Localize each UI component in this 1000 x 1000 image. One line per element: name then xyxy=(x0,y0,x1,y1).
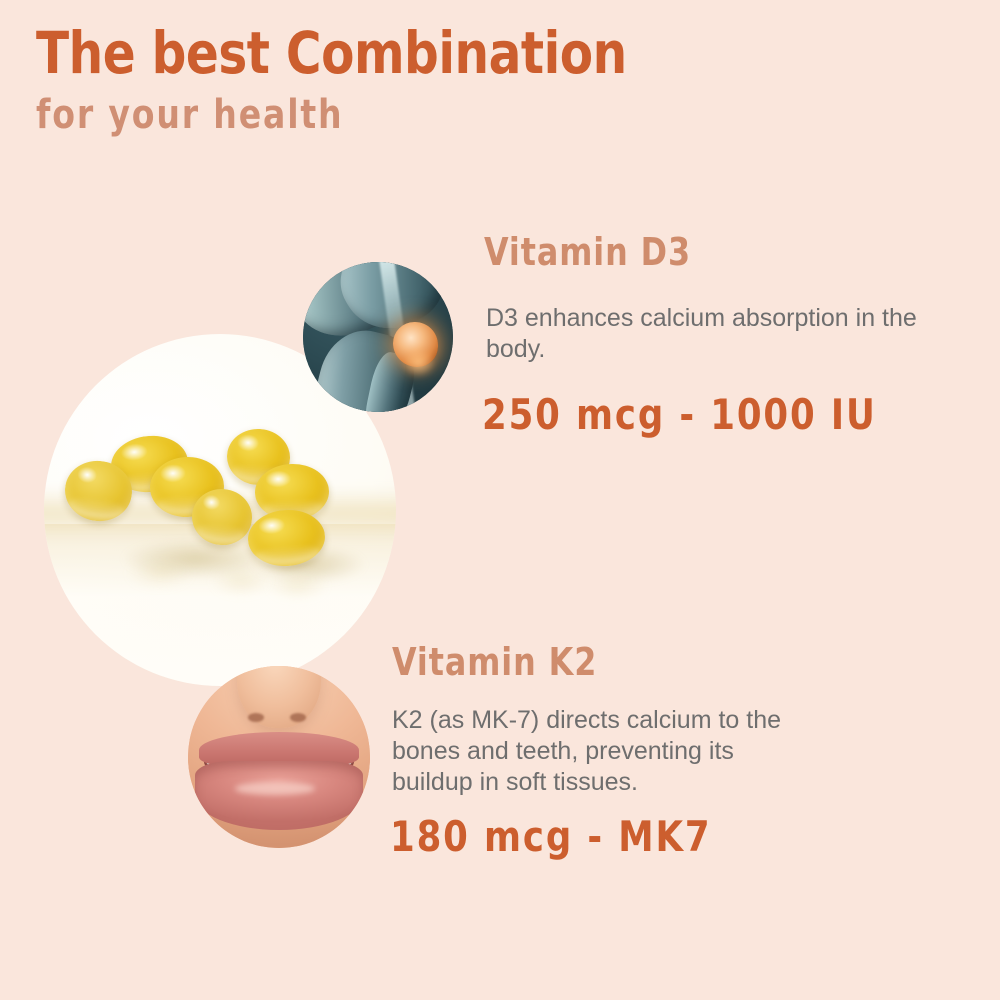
page-title: The best Combination xyxy=(36,22,627,84)
infographic-canvas: The best Combination for your health xyxy=(0,0,1000,1000)
lower-lip xyxy=(195,761,362,830)
vitamin-d3-title: Vitamin D3 xyxy=(484,230,691,274)
vitamin-d3-description: D3 enhances calcium absorption in the bo… xyxy=(486,303,956,365)
joint-inflammation-glow-inner xyxy=(396,343,441,382)
vitamin-k2-dosage: 180 mcg - MK7 xyxy=(390,812,711,861)
smiling-teeth-image xyxy=(188,666,370,848)
vitamin-k2-title: Vitamin K2 xyxy=(392,640,597,684)
capsule-reflection xyxy=(255,566,339,605)
vitamin-d3-dosage: 250 mcg - 1000 IU xyxy=(482,390,877,439)
knee-joint-image xyxy=(303,262,453,412)
vitamin-k2-description: K2 (as MK-7) directs calcium to the bone… xyxy=(392,705,812,798)
page-subtitle: for your health xyxy=(36,92,343,138)
